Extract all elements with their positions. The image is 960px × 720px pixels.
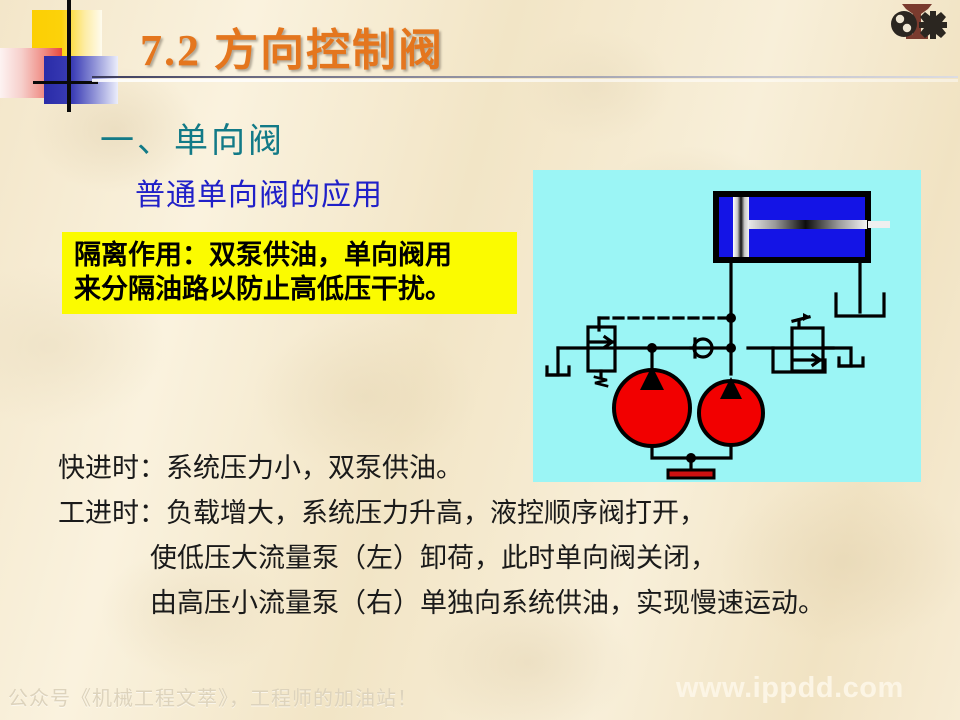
hydraulic-circuit-svg [533,170,921,482]
page-title: 7.2 方向控制阀 [140,14,444,78]
junction-dot-main [726,343,736,353]
sequence-valve-spring [595,377,607,386]
header-rule-light [92,79,958,82]
sequence-valve-drain-left [547,348,558,375]
footer-attribution: 公众号《机械工程文萃》，工程师的加油站！ [8,682,418,711]
footer-watermark-url: www.ippdd.com [676,672,904,705]
callout-line-1: 隔离作用：双泵供油，单向阀用 [74,238,507,272]
site-logo [884,0,950,44]
relief-valve-adjust-knob [803,313,811,321]
decoration-cross-vertical [67,0,71,112]
explanation-line-1: 快进时：系统压力小，双泵供油。 [58,446,948,491]
site-logo-icon [884,0,950,44]
section-heading-primary: 一、单向阀 [100,113,285,162]
relief-valve-outlet [823,348,851,366]
header-rule-dark [92,76,958,78]
junction-dot-left-pump [647,343,657,353]
section-heading-secondary: 普通单向阀的应用 [135,170,383,214]
explanation-line-3: 使低压大流量泵（左）卸荷，此时单向阀关闭， [58,536,948,581]
slide-canvas: 7.2 方向控制阀 一、单向阀 普通单向阀的应用 隔离作用：双泵供油，单向阀用 … [0,0,960,720]
cylinder-piston [733,197,749,257]
callout-box: 隔离作用：双泵供油，单向阀用 来分隔油路以防止高低压干扰。 [62,232,517,314]
decoration-cross-horizontal [33,81,98,84]
hydraulic-circuit-diagram [533,170,921,482]
explanation-text: 快进时：系统压力小，双泵供油。 工进时：负载增大，系统压力升高，液控顺序阀打开，… [58,446,948,626]
junction-dot-pilot [726,313,736,323]
explanation-line-4: 由高压小流量泵（右）单独向系统供油，实现慢速运动。 [58,581,948,626]
cylinder-rod-inner [749,220,867,229]
explanation-line-2: 工进时：负载增大，系统压力升高，液控顺序阀打开， [58,491,948,536]
callout-line-2: 来分隔油路以防止高低压干扰。 [74,272,507,306]
cylinder-rod-outer [868,221,890,228]
